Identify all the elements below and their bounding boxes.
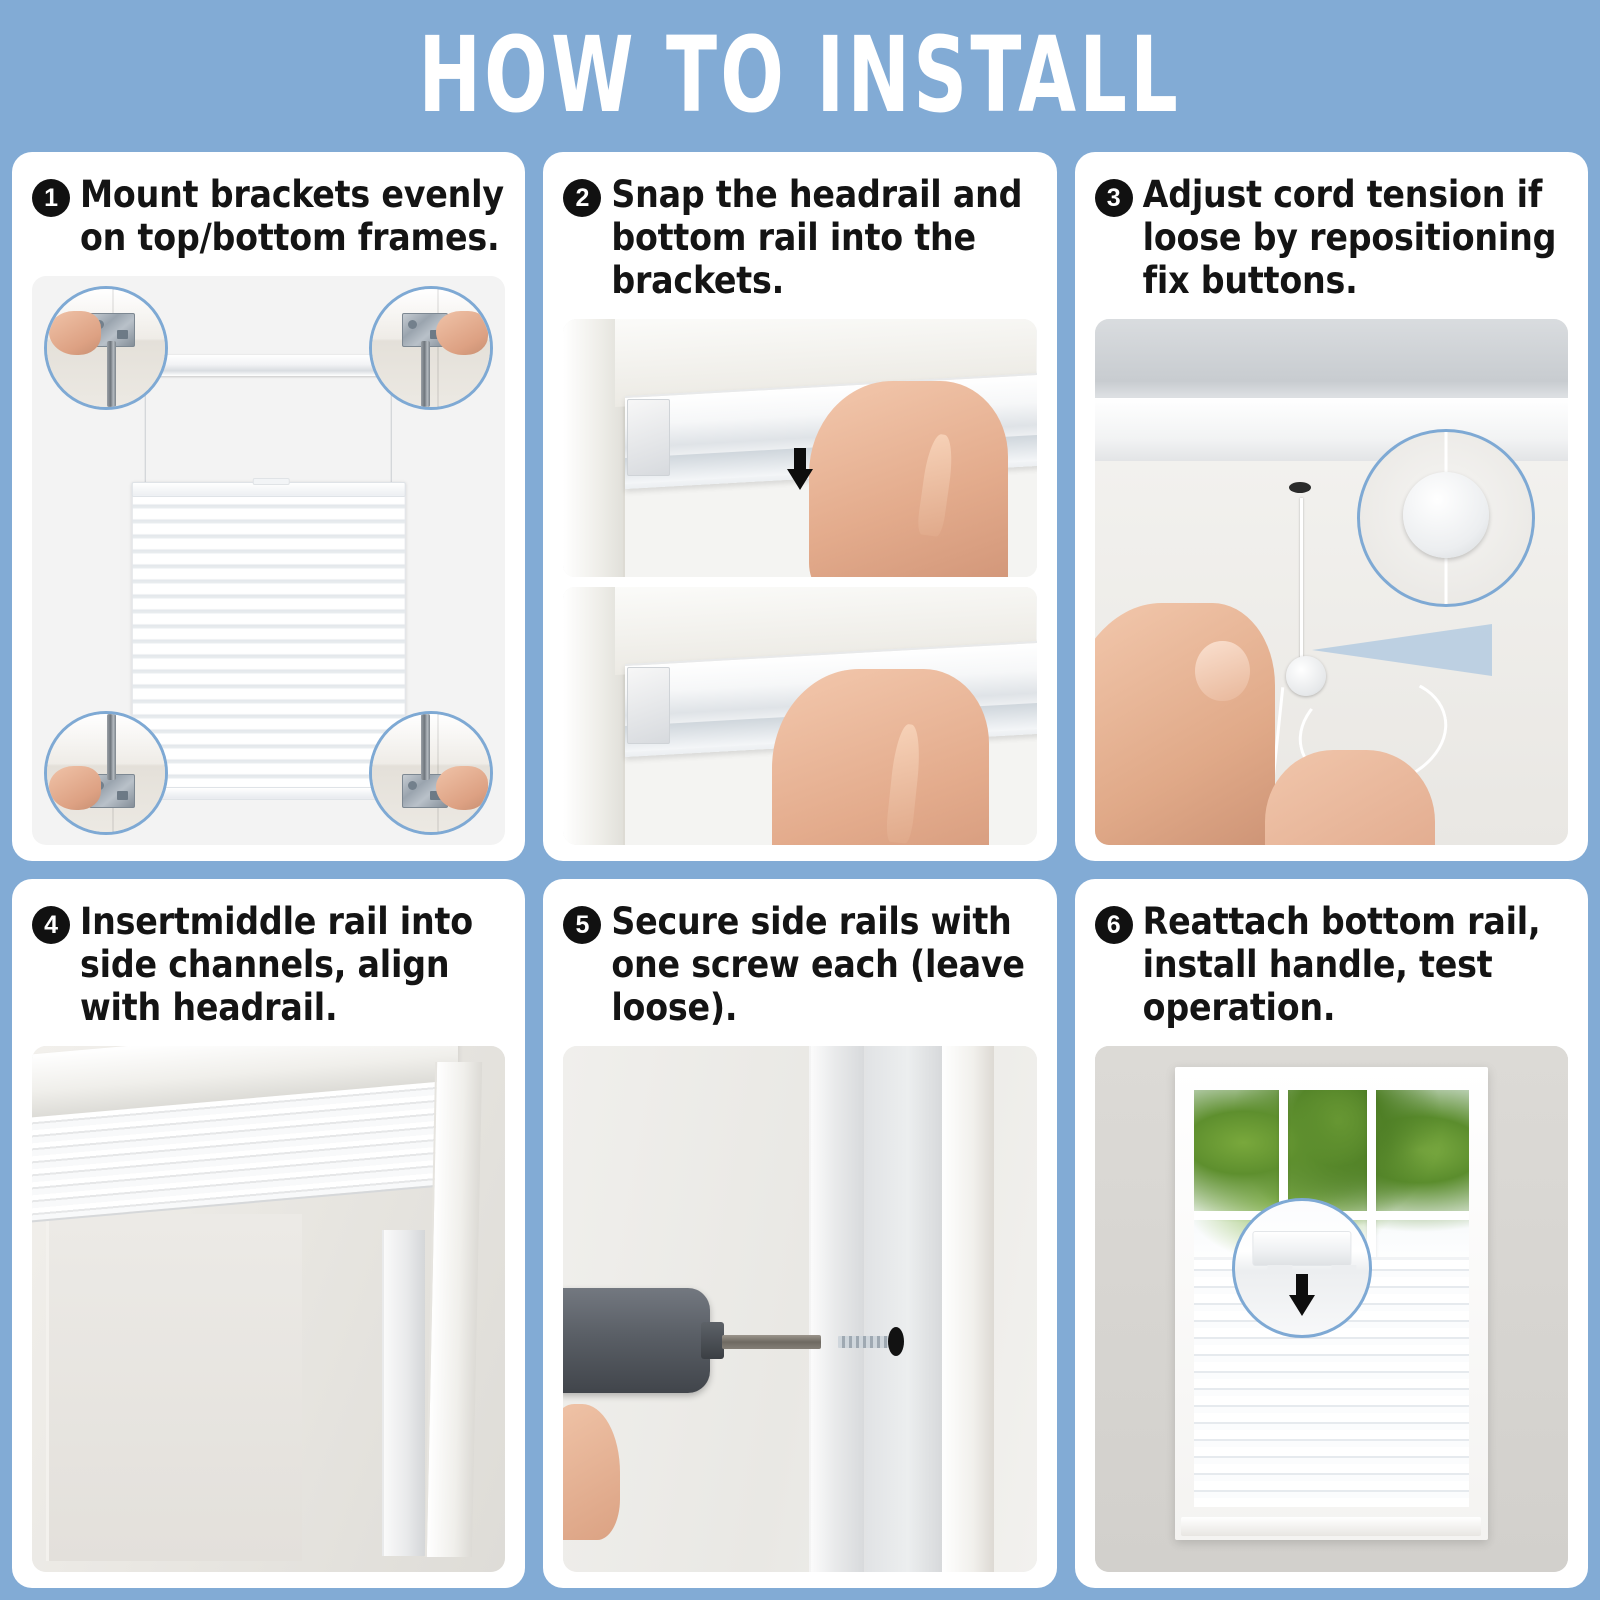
step-6-heading: 6 Reattach bottom rail, install handle, … bbox=[1095, 901, 1568, 1030]
step-4-heading: 4 Insertmiddle rail into side channels, … bbox=[32, 901, 505, 1030]
side-channel bbox=[866, 1046, 942, 1572]
window-mullion-vertical-2 bbox=[1367, 1090, 1376, 1265]
step-number-badge-4: 4 bbox=[32, 906, 70, 944]
screwdriver-shaft-icon bbox=[107, 341, 116, 407]
hand-icon bbox=[772, 669, 990, 845]
step-number-badge-5: 5 bbox=[563, 906, 601, 944]
window-sill bbox=[1181, 1517, 1481, 1536]
rail-endcap bbox=[627, 399, 670, 476]
finger-icon bbox=[885, 723, 923, 844]
hand-icon bbox=[1095, 603, 1275, 845]
steps-grid: 1 Mount brackets evenly on top/bottom fr… bbox=[12, 152, 1588, 1588]
step-1-image bbox=[32, 276, 505, 845]
bottom-rail bbox=[131, 787, 406, 799]
pleated-fabric bbox=[131, 482, 406, 788]
drill-chuck bbox=[701, 1322, 725, 1359]
hand-icon bbox=[49, 311, 101, 355]
step-5-image bbox=[563, 1046, 1036, 1572]
infographic-page: HOW TO INSTALL 1 Mount brackets evenly o… bbox=[0, 0, 1600, 1600]
page-title: HOW TO INSTALL bbox=[419, 23, 1182, 127]
finger-icon bbox=[916, 433, 956, 538]
cord-hole bbox=[1289, 482, 1311, 493]
step-3-heading: 3 Adjust cord tension if loose by reposi… bbox=[1095, 174, 1568, 303]
title-bar: HOW TO INSTALL bbox=[0, 0, 1600, 150]
screwdriver-shaft-icon bbox=[421, 341, 430, 407]
step-5-label: Secure side rails with one screw each (l… bbox=[611, 901, 1036, 1030]
screwdriver-bit-icon bbox=[722, 1335, 821, 1349]
step-card-5: 5 Secure side rails with one screw each … bbox=[543, 879, 1056, 1588]
step-card-1: 1 Mount brackets evenly on top/bottom fr… bbox=[12, 152, 525, 861]
rail-endcap bbox=[627, 667, 670, 744]
screwdriver-shaft-icon bbox=[421, 714, 430, 780]
magnifier-circle-icon bbox=[1232, 1198, 1372, 1338]
step-4-image bbox=[32, 1046, 505, 1572]
step-4-label: Insertmiddle rail into side channels, al… bbox=[80, 901, 505, 1030]
bracket-inset-bottom-left bbox=[44, 711, 168, 835]
step-number-badge-2: 2 bbox=[563, 179, 601, 217]
step-2-heading: 2 Snap the headrail and bottom rail into… bbox=[563, 174, 1036, 303]
step-card-3: 3 Adjust cord tension if loose by reposi… bbox=[1075, 152, 1588, 861]
side-rail bbox=[809, 1046, 866, 1572]
step-number-badge-6: 6 bbox=[1095, 906, 1133, 944]
window-jamb-right bbox=[424, 1062, 482, 1557]
power-screwdriver-icon bbox=[563, 1288, 710, 1393]
side-channel bbox=[382, 1230, 425, 1556]
blind-handle bbox=[1252, 1231, 1351, 1266]
step-number-badge-3: 3 bbox=[1095, 179, 1133, 217]
step-3-image bbox=[1095, 319, 1568, 845]
window-recess bbox=[46, 1214, 302, 1561]
fix-button-closeup bbox=[1403, 472, 1489, 558]
hand-icon bbox=[49, 766, 101, 810]
step-card-6: 6 Reattach bottom rail, install handle, … bbox=[1075, 879, 1588, 1588]
screw-head bbox=[888, 1327, 904, 1356]
step-1-heading: 1 Mount brackets evenly on top/bottom fr… bbox=[32, 174, 505, 260]
bracket-inset-bottom-right bbox=[369, 711, 493, 835]
hand-icon bbox=[809, 381, 1008, 577]
bracket-inset-top-right bbox=[369, 286, 493, 410]
middle-rail bbox=[131, 482, 406, 497]
magnifier-circle-icon bbox=[1357, 429, 1535, 607]
hand-icon bbox=[436, 311, 488, 355]
step-2-photo-before bbox=[563, 319, 1036, 577]
magnifier-cone bbox=[1312, 624, 1492, 676]
step-card-4: 4 Insertmiddle rail into side channels, … bbox=[12, 879, 525, 1588]
ceiling-band bbox=[1095, 319, 1568, 408]
window-frame-photo bbox=[563, 587, 1036, 845]
step-2-image bbox=[563, 319, 1036, 845]
bracket-inset-top-left bbox=[44, 286, 168, 410]
window-trim bbox=[942, 1046, 994, 1572]
step-3-label: Adjust cord tension if loose by repositi… bbox=[1143, 174, 1568, 303]
step-6-image bbox=[1095, 1046, 1568, 1572]
screw-icon bbox=[838, 1336, 890, 1348]
step-5-heading: 5 Secure side rails with one screw each … bbox=[563, 901, 1036, 1030]
cord-vertical bbox=[1300, 498, 1303, 666]
hand-icon bbox=[436, 766, 488, 810]
step-number-badge-1: 1 bbox=[32, 179, 70, 217]
headrail bbox=[137, 355, 401, 377]
pleated-blind-diagram bbox=[131, 321, 406, 799]
step-2-label: Snap the headrail and bottom rail into t… bbox=[611, 174, 1036, 303]
thumbnail-icon bbox=[1195, 641, 1249, 701]
step-1-label: Mount brackets evenly on top/bottom fram… bbox=[80, 174, 505, 260]
screwdriver-shaft-icon bbox=[107, 714, 116, 780]
step-2-photo-after bbox=[563, 587, 1036, 845]
step-6-label: Reattach bottom rail, install handle, te… bbox=[1143, 901, 1568, 1030]
step-card-2: 2 Snap the headrail and bottom rail into… bbox=[543, 152, 1056, 861]
